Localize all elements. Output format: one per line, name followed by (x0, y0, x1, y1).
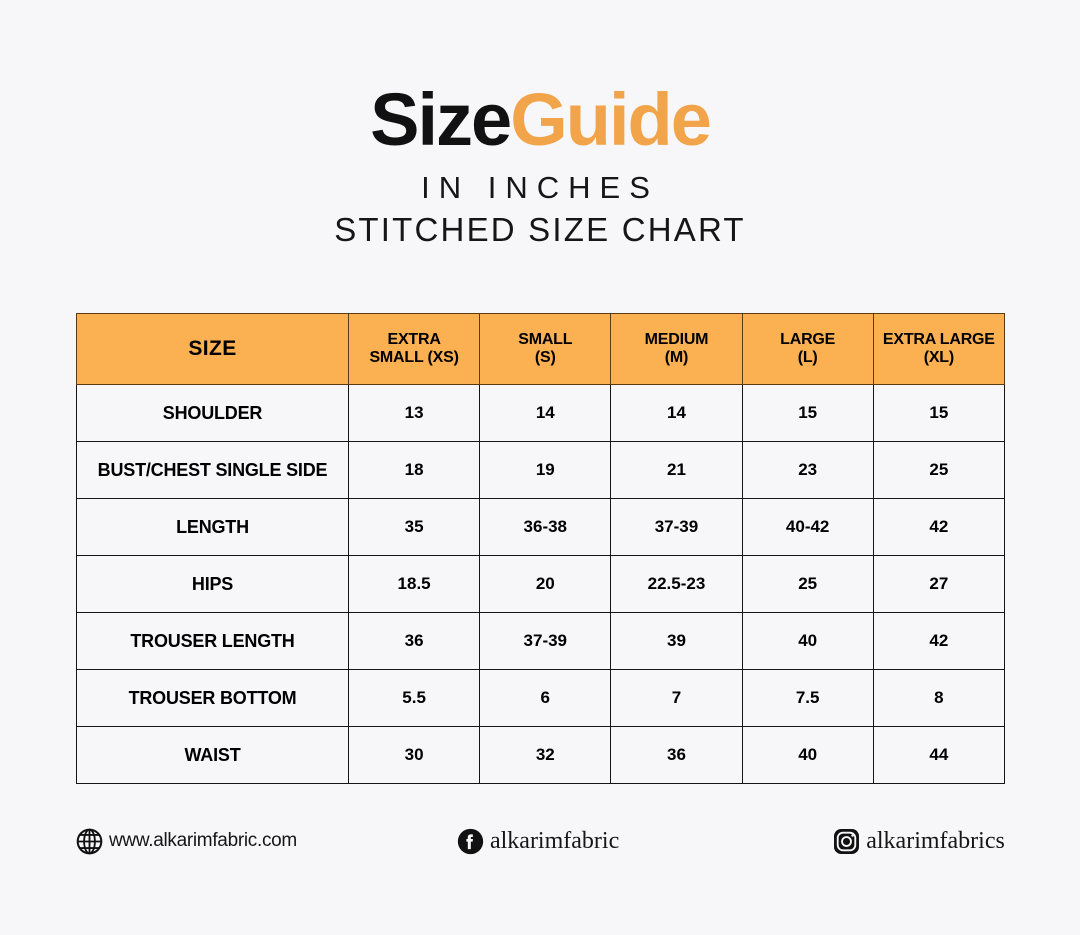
cell-value: 36 (611, 727, 742, 784)
table-row: TROUSER BOTTOM 5.5 6 7 7.5 8 (77, 670, 1005, 727)
cell-value: 30 (349, 727, 480, 784)
table-row: HIPS 18.5 20 22.5-23 25 27 (77, 556, 1005, 613)
row-label: HIPS (77, 556, 349, 613)
cell-value: 37-39 (611, 499, 742, 556)
row-label: LENGTH (77, 499, 349, 556)
cell-value: 13 (349, 385, 480, 442)
cell-value: 25 (742, 556, 873, 613)
size-guide-page: SizeGuide IN INCHES STITCHED SIZE CHART … (0, 0, 1080, 935)
cell-value: 40 (742, 727, 873, 784)
cell-value: 14 (480, 385, 611, 442)
globe-icon (76, 828, 103, 855)
cell-value: 15 (873, 385, 1004, 442)
footer: www.alkarimfabric.com alkarimfabric alka… (76, 818, 1004, 864)
cell-value: 39 (611, 613, 742, 670)
table-row: BUST/CHEST SINGLE SIDE 18 19 21 23 25 (77, 442, 1005, 499)
footer-instagram[interactable]: alkarimfabrics (833, 828, 1005, 855)
cell-value: 5.5 (349, 670, 480, 727)
header-line-2: SMALL (XS) (351, 349, 477, 367)
cell-value: 7 (611, 670, 742, 727)
cell-value: 42 (873, 613, 1004, 670)
header-cell-xs: EXTRA SMALL (XS) (349, 314, 480, 385)
cell-value: 8 (873, 670, 1004, 727)
header-line-2: (M) (613, 349, 739, 367)
table-header-row: SIZE EXTRA SMALL (XS) SMALL (S) MEDIUM (… (77, 314, 1005, 385)
footer-facebook[interactable]: alkarimfabric (457, 828, 619, 855)
instagram-icon (833, 828, 860, 855)
row-label: WAIST (77, 727, 349, 784)
footer-website[interactable]: www.alkarimfabric.com (76, 828, 297, 855)
cell-value: 15 (742, 385, 873, 442)
row-label: TROUSER BOTTOM (77, 670, 349, 727)
header-cell-m: MEDIUM (M) (611, 314, 742, 385)
header-line-2: (S) (482, 349, 608, 367)
cell-value: 21 (611, 442, 742, 499)
title-block: SizeGuide IN INCHES STITCHED SIZE CHART (0, 78, 1080, 249)
cell-value: 25 (873, 442, 1004, 499)
size-chart-table: SIZE EXTRA SMALL (XS) SMALL (S) MEDIUM (… (76, 313, 1005, 784)
cell-value: 18 (349, 442, 480, 499)
header-line-1: MEDIUM (613, 331, 739, 349)
cell-value: 23 (742, 442, 873, 499)
header-cell-s: SMALL (S) (480, 314, 611, 385)
header-line-1: SIZE (79, 337, 346, 361)
cell-value: 18.5 (349, 556, 480, 613)
row-label: TROUSER LENGTH (77, 613, 349, 670)
cell-value: 40-42 (742, 499, 873, 556)
facebook-handle: alkarimfabric (490, 828, 619, 855)
table-row: TROUSER LENGTH 36 37-39 39 40 42 (77, 613, 1005, 670)
header-line-1: LARGE (745, 331, 871, 349)
page-title: SizeGuide (0, 78, 1080, 162)
row-label: SHOULDER (77, 385, 349, 442)
cell-value: 37-39 (480, 613, 611, 670)
header-cell-size: SIZE (77, 314, 349, 385)
cell-value: 32 (480, 727, 611, 784)
title-word-guide: Guide (510, 78, 710, 161)
header-line-1: EXTRA (351, 331, 477, 349)
header-cell-xl: EXTRA LARGE (XL) (873, 314, 1004, 385)
cell-value: 36 (349, 613, 480, 670)
cell-value: 14 (611, 385, 742, 442)
website-label: www.alkarimfabric.com (109, 830, 297, 852)
subtitle-chart-type: STITCHED SIZE CHART (0, 211, 1080, 249)
cell-value: 19 (480, 442, 611, 499)
header-line-1: SMALL (482, 331, 608, 349)
table-row: SHOULDER 13 14 14 15 15 (77, 385, 1005, 442)
header-line-2: (XL) (876, 349, 1002, 367)
header-line-1: EXTRA LARGE (876, 331, 1002, 349)
cell-value: 20 (480, 556, 611, 613)
cell-value: 42 (873, 499, 1004, 556)
table-row: LENGTH 35 36-38 37-39 40-42 42 (77, 499, 1005, 556)
cell-value: 22.5-23 (611, 556, 742, 613)
row-label: BUST/CHEST SINGLE SIDE (77, 442, 349, 499)
cell-value: 6 (480, 670, 611, 727)
subtitle-units: IN INCHES (0, 170, 1080, 206)
table-row: WAIST 30 32 36 40 44 (77, 727, 1005, 784)
header-line-2: (L) (745, 349, 871, 367)
cell-value: 27 (873, 556, 1004, 613)
facebook-icon (457, 828, 484, 855)
title-word-size: Size (370, 78, 510, 161)
cell-value: 40 (742, 613, 873, 670)
cell-value: 7.5 (742, 670, 873, 727)
cell-value: 35 (349, 499, 480, 556)
instagram-handle: alkarimfabrics (866, 828, 1005, 855)
cell-value: 44 (873, 727, 1004, 784)
header-cell-l: LARGE (L) (742, 314, 873, 385)
cell-value: 36-38 (480, 499, 611, 556)
